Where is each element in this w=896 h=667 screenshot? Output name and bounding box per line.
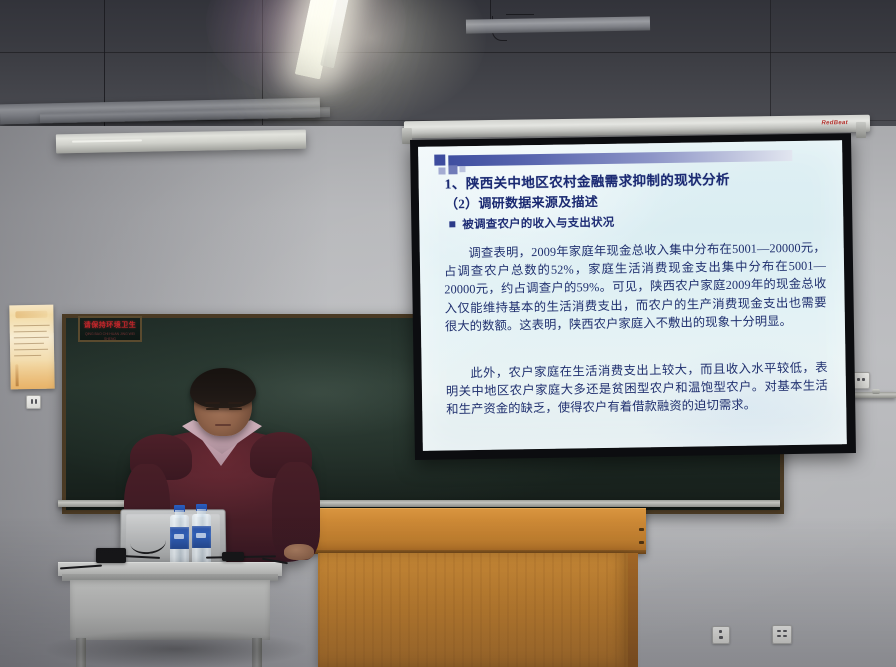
presenter-hand-right [284, 544, 314, 560]
slide-content: 1、陕西关中地区农村金融需求抑制的现状分析 （2）调研数据来源及描述 被调查农户… [418, 140, 847, 451]
desk-leg-left [76, 638, 86, 667]
poster-text-line [14, 343, 44, 345]
bottle-label-mark [174, 534, 184, 540]
slide-heading-2: （2）调研数据来源及描述 [445, 191, 598, 212]
slide-surface: 1、陕西关中地区农村金融需求抑制的现状分析 （2）调研数据来源及描述 被调查农户… [418, 140, 847, 451]
notice-board: 请保持环境卫生 QING BAO CHI HUAN JING WEI SHENG [78, 316, 142, 342]
slide-bullet-1: 被调查农户的收入与支出状况 [449, 214, 614, 233]
poster-text-line [14, 325, 49, 327]
ceiling-wire [506, 14, 534, 15]
presenter-brow-right [228, 402, 243, 404]
lectern-knob[interactable] [639, 541, 644, 544]
presenter-eye-left [206, 408, 219, 410]
square-bullet-icon [449, 221, 455, 227]
ceiling-wire [770, 0, 771, 128]
bottle-label-mark [196, 533, 206, 539]
lectern-body [318, 553, 630, 667]
poster-title-band [16, 311, 48, 319]
classroom-scene: 请保持环境卫生 QING BAO CHI HUAN JING WEI SHENG… [0, 0, 896, 667]
lectern-side-panel [628, 553, 638, 667]
wall-switch-lower[interactable] [772, 625, 792, 644]
rail-clip [872, 389, 880, 394]
slide-bullet-1-label: 被调查农户的收入与支出状况 [462, 214, 614, 232]
slide-paragraph-1: 调查表明，2009年家庭年现金总收入集中分布在5001—20000元，占调查农户… [444, 238, 827, 335]
presenter-hair [190, 368, 256, 408]
poster-text-line [14, 348, 47, 350]
screen-frame: 1、陕西关中地区农村金融需求抑制的现状分析 （2）调研数据来源及描述 被调查农户… [410, 133, 856, 460]
slide-heading-1: 1、陕西关中地区农村金融需求抑制的现状分析 [445, 168, 730, 192]
poster-text-line [14, 331, 47, 333]
notice-board-title: 请保持环境卫生 [82, 321, 138, 330]
poster-text-line [14, 337, 48, 339]
presenter-brow-left [205, 402, 220, 404]
lectern-top [306, 508, 646, 553]
ceiling-panel-seam [0, 52, 896, 53]
notice-board-subtitle: QING BAO CHI HUAN JING WEI SHENG [82, 332, 138, 342]
screen-brand-logo: RedBeat [821, 120, 848, 126]
lectern-knob[interactable] [639, 528, 644, 531]
wall-socket-lower[interactable] [712, 626, 730, 644]
water-bottle-1[interactable] [170, 505, 189, 569]
cable-connector[interactable] [222, 552, 244, 561]
desk-leg-right [252, 638, 262, 667]
poster-text-line [15, 354, 41, 355]
desk-front-panel [70, 580, 270, 640]
screen-bracket-right [856, 122, 866, 138]
bottle-label [170, 527, 189, 549]
presenter-eye-right [229, 408, 242, 410]
slide-paragraph-2: 此外，农户家庭在生活消费支出上较大，而且收入水平较低，表明关中地区农户家庭大多还… [446, 358, 829, 419]
wall-socket[interactable] [26, 395, 41, 409]
bottle-label [192, 526, 211, 548]
presenter-mouth [215, 424, 231, 426]
wall-poster [9, 305, 54, 390]
power-adapter[interactable] [96, 548, 126, 563]
